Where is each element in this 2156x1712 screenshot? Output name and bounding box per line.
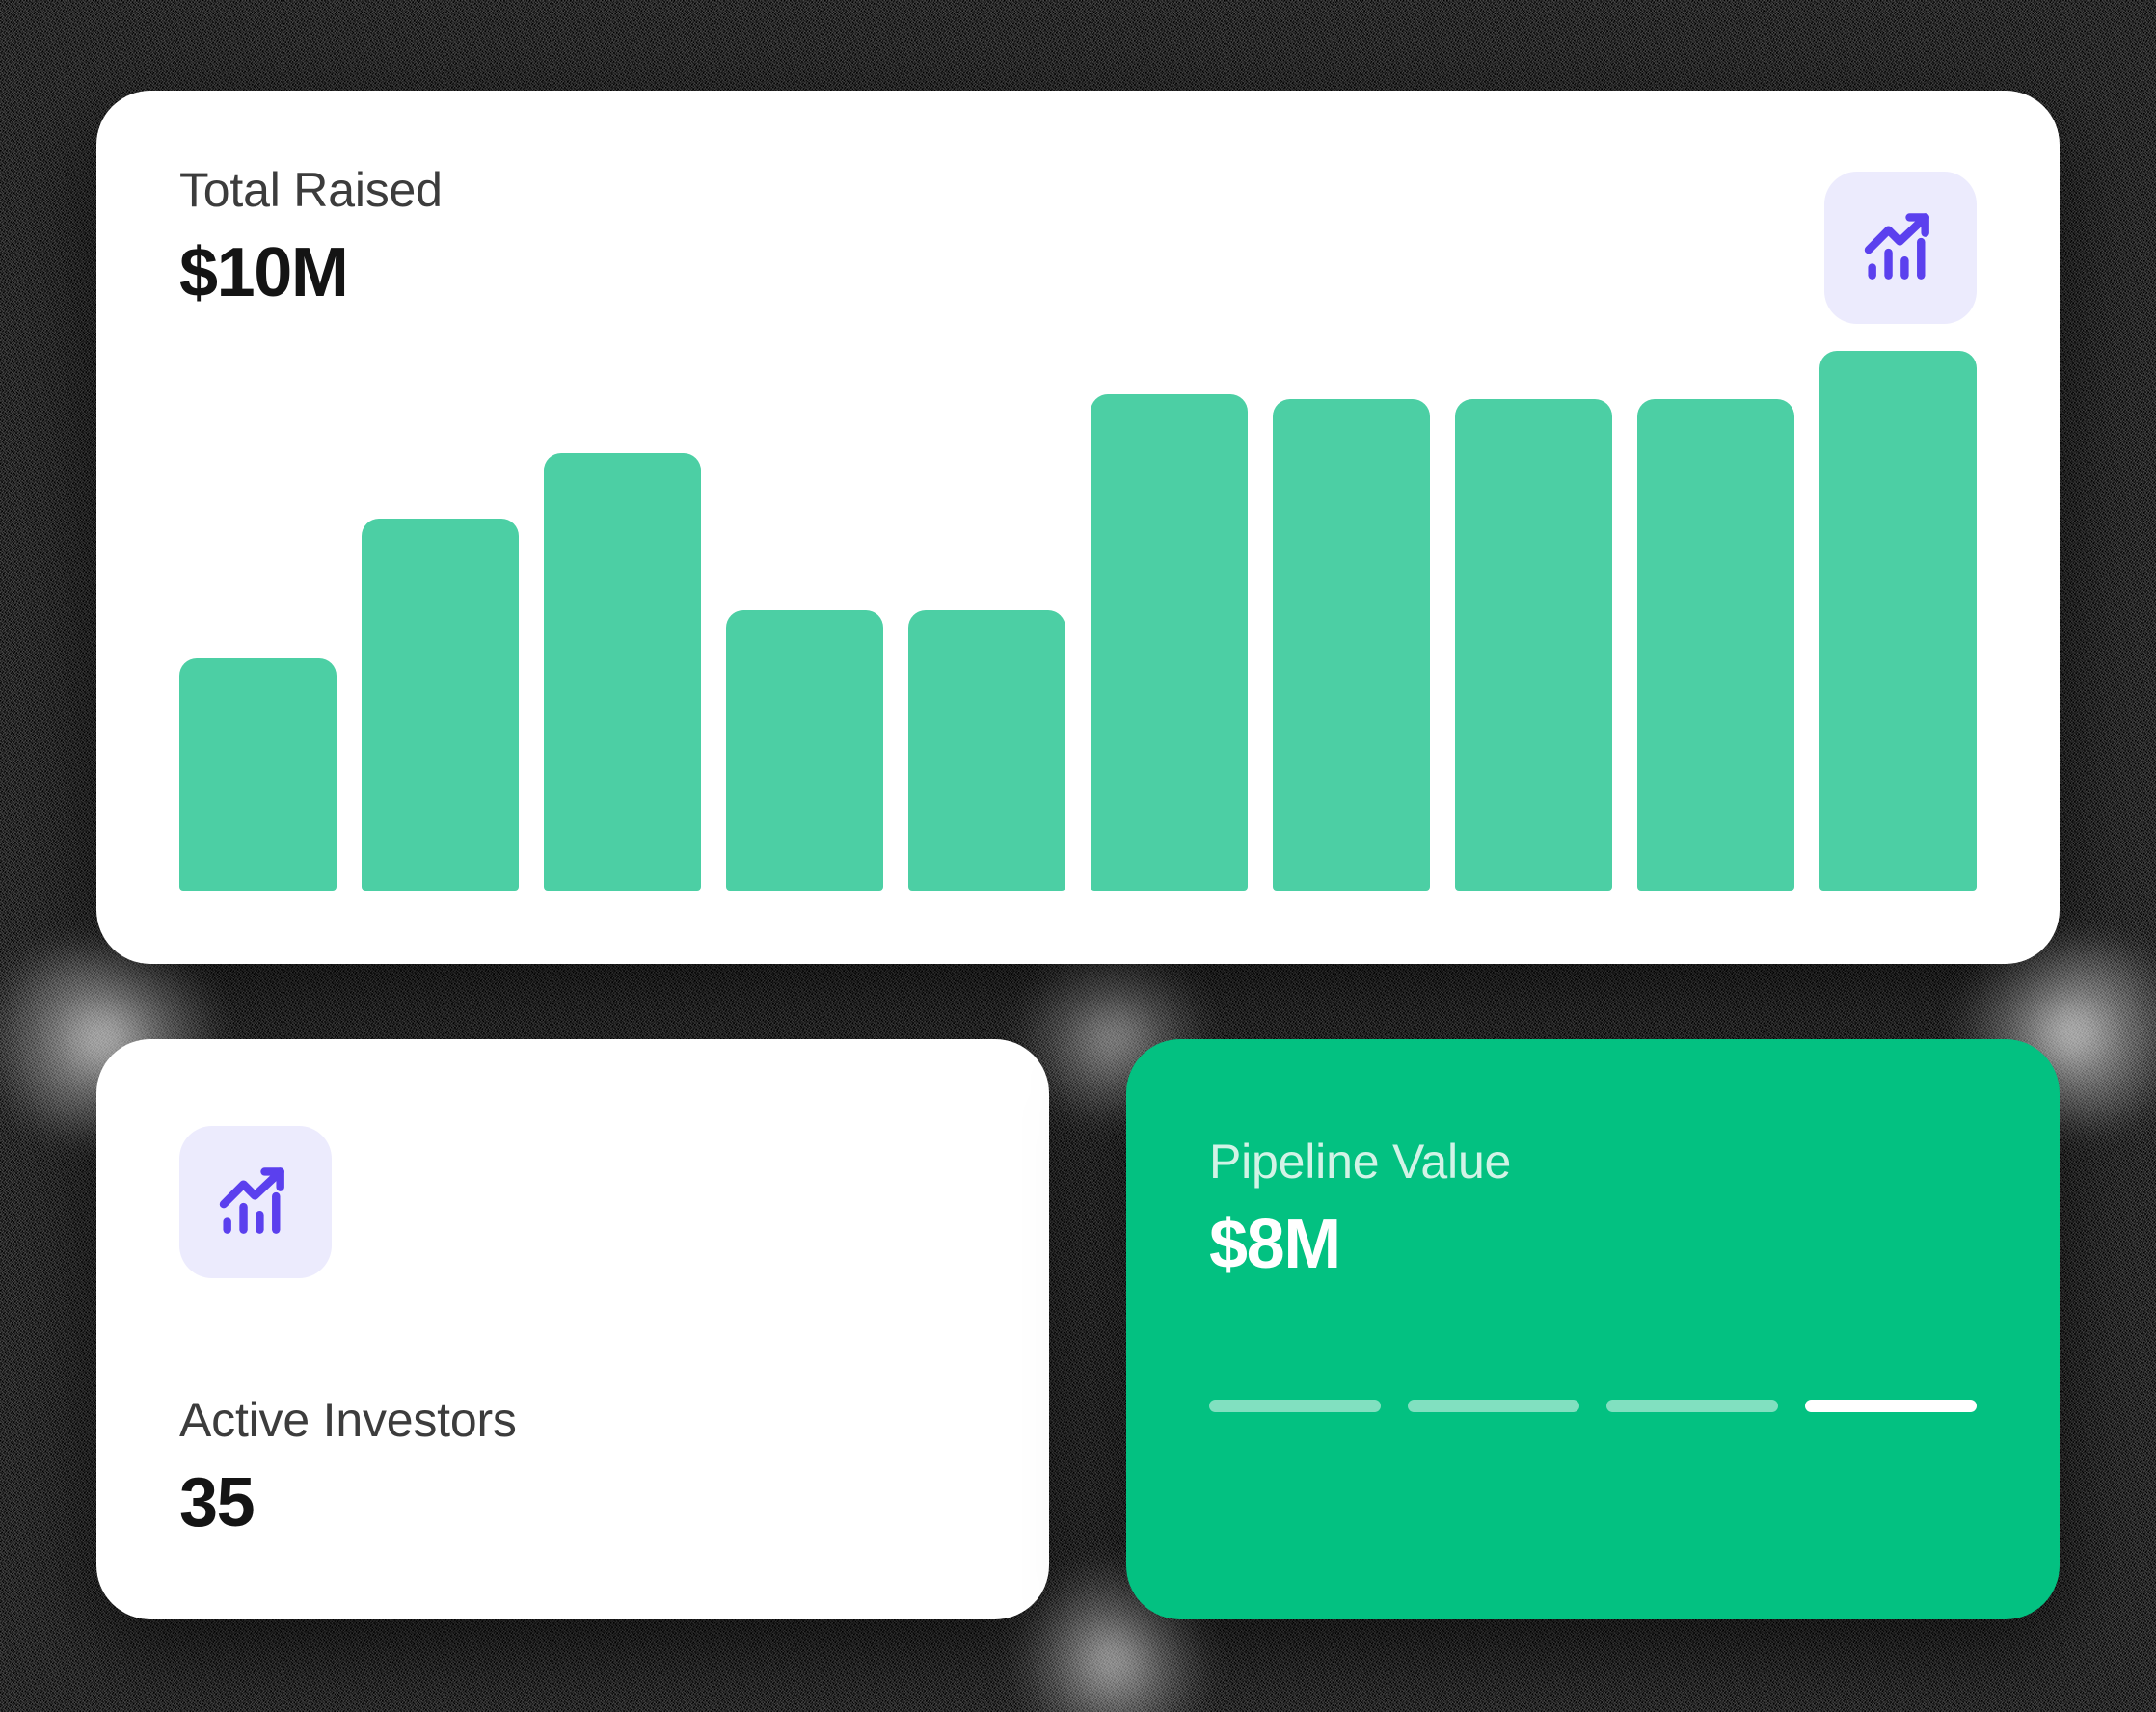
pipeline-value-value: $8M — [1209, 1204, 1511, 1286]
chart-bar[interactable] — [1637, 399, 1794, 891]
active-investors-icon-tile[interactable] — [179, 1126, 332, 1278]
chart-bar[interactable] — [908, 610, 1065, 891]
chart-bar[interactable] — [1091, 394, 1248, 891]
chart-bar[interactable] — [544, 453, 701, 891]
dashboard-stage: Total Raised $10M — [0, 0, 2156, 1712]
active-investors-card[interactable]: Active Investors 35 — [96, 1039, 1049, 1619]
trending-up-bar-chart-icon — [1858, 205, 1943, 290]
total-raised-icon-tile[interactable] — [1824, 172, 1977, 324]
pipeline-value-label: Pipeline Value — [1209, 1134, 1511, 1190]
total-raised-header: Total Raised $10M — [179, 162, 443, 314]
chart-bar[interactable] — [726, 610, 883, 891]
trending-up-bar-chart-icon — [213, 1160, 298, 1244]
progress-segment[interactable] — [1408, 1400, 1579, 1412]
total-raised-card[interactable]: Total Raised $10M — [96, 91, 2060, 964]
chart-bar[interactable] — [1455, 399, 1612, 891]
progress-segment[interactable] — [1805, 1400, 1977, 1412]
active-investors-label: Active Investors — [179, 1392, 517, 1449]
pipeline-value-metric: Pipeline Value $8M — [1209, 1134, 1511, 1286]
progress-segment[interactable] — [1606, 1400, 1778, 1412]
active-investors-value: 35 — [179, 1462, 517, 1544]
pipeline-progress-tracker — [1209, 1400, 1977, 1412]
total-raised-label: Total Raised — [179, 162, 443, 219]
chart-bar[interactable] — [179, 658, 337, 891]
progress-segment[interactable] — [1209, 1400, 1381, 1412]
pipeline-value-card[interactable]: Pipeline Value $8M — [1126, 1039, 2060, 1619]
active-investors-metric: Active Investors 35 — [179, 1392, 517, 1544]
chart-bar[interactable] — [1273, 399, 1430, 891]
chart-bar[interactable] — [1819, 351, 1977, 891]
total-raised-bar-chart — [179, 351, 1977, 891]
chart-bar[interactable] — [362, 519, 519, 891]
total-raised-value: $10M — [179, 232, 443, 314]
